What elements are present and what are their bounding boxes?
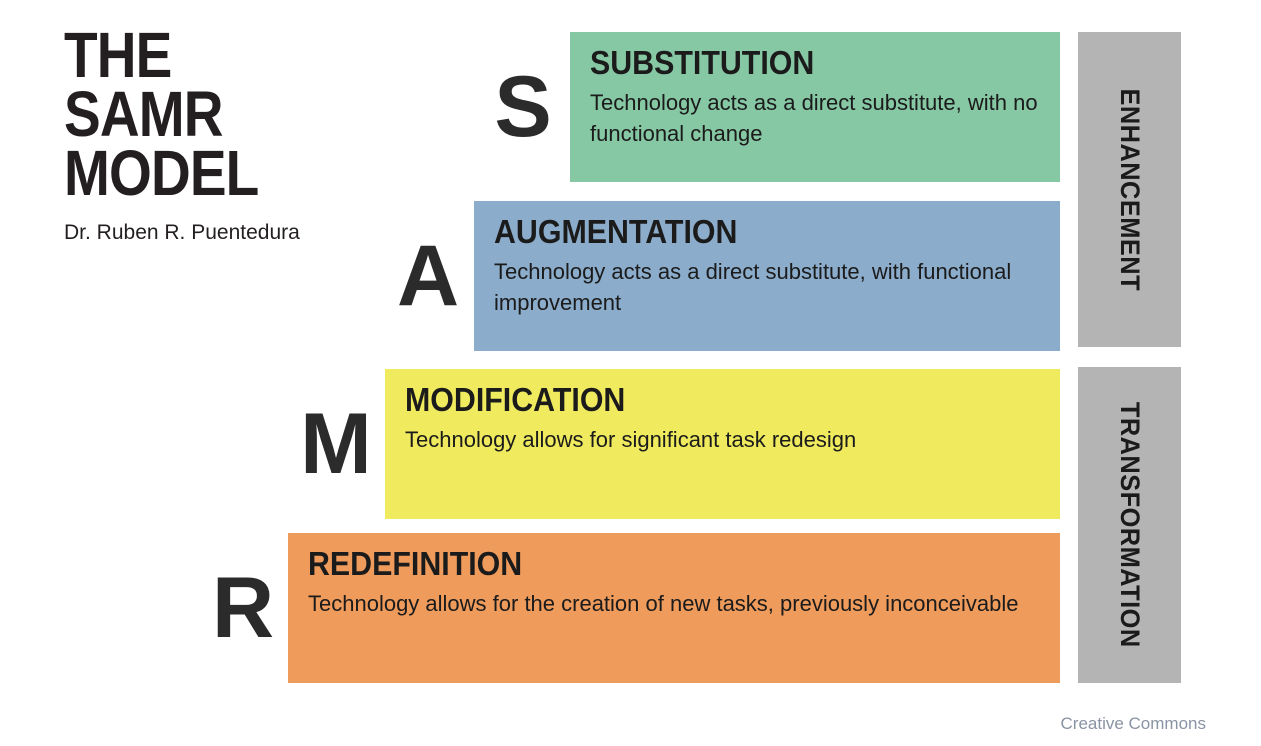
level-row-substitution: S SUBSTITUTION Technology acts as a dire… (480, 32, 1060, 182)
level-letter-m: M (293, 369, 379, 519)
diagram-title-block: THE SAMR MODEL Dr. Ruben R. Puentedura (64, 26, 394, 245)
level-row-modification: M MODIFICATION Technology allows for sig… (293, 369, 1060, 519)
title-line-1: THE (64, 26, 348, 85)
level-title-modification: MODIFICATION (405, 383, 989, 418)
level-description-modification: Technology allows for significant task r… (405, 424, 1040, 455)
level-row-augmentation: A AUGMENTATION Technology acts as a dire… (385, 201, 1060, 351)
title-line-2: SAMR (64, 85, 348, 144)
level-bar-redefinition: REDEFINITION Technology allows for the c… (288, 533, 1060, 683)
level-bar-modification: MODIFICATION Technology allows for signi… (385, 369, 1060, 519)
level-letter-a: A (385, 201, 471, 351)
level-letter-r: R (200, 533, 286, 683)
level-letter-s: S (480, 32, 566, 182)
level-row-redefinition: R REDEFINITION Technology allows for the… (200, 533, 1060, 683)
level-description-redefinition: Technology allows for the creation of ne… (308, 588, 1040, 619)
category-label-enhancement: ENHANCEMENT (1114, 88, 1145, 291)
level-bar-augmentation: AUGMENTATION Technology acts as a direct… (474, 201, 1060, 351)
category-bar-enhancement: ENHANCEMENT (1078, 32, 1181, 347)
level-title-redefinition: REDEFINITION (308, 547, 981, 582)
category-bar-transformation: TRANSFORMATION (1078, 367, 1181, 683)
level-description-substitution: Technology acts as a direct substitute, … (590, 87, 1040, 149)
level-title-substitution: SUBSTITUTION (590, 46, 1004, 81)
category-label-transformation: TRANSFORMATION (1114, 402, 1145, 648)
title-line-3: MODEL (64, 144, 348, 203)
author-byline: Dr. Ruben R. Puentedura (64, 221, 394, 245)
samr-diagram-canvas: THE SAMR MODEL Dr. Ruben R. Puentedura S… (0, 0, 1261, 746)
footer-credit: Creative Commons (1061, 714, 1207, 734)
level-description-augmentation: Technology acts as a direct substitute, … (494, 256, 1040, 318)
level-title-augmentation: AUGMENTATION (494, 215, 996, 250)
level-bar-substitution: SUBSTITUTION Technology acts as a direct… (570, 32, 1060, 182)
